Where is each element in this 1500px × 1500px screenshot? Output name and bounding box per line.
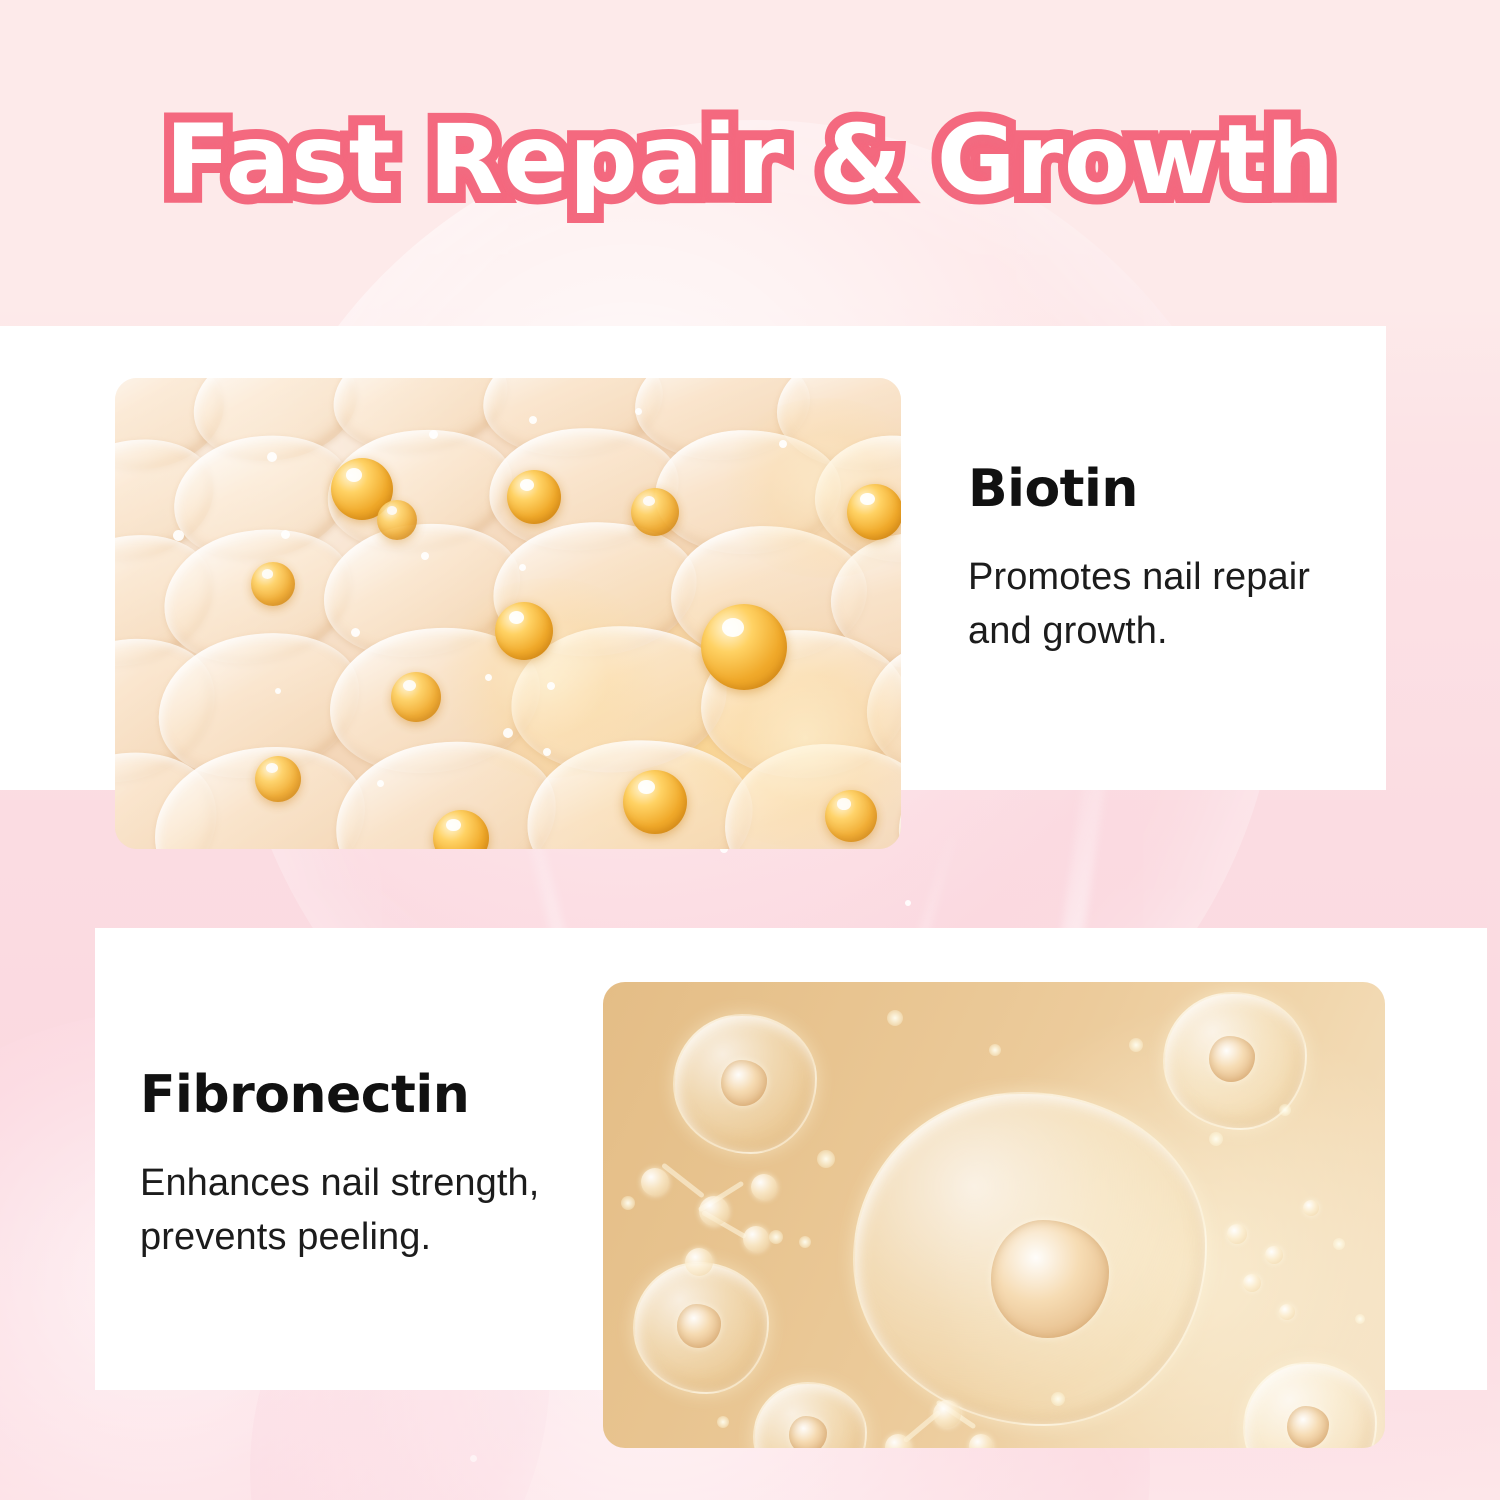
fibronectin-title: Fibronectin [140, 1068, 590, 1123]
infographic-stage: Fast Repair & Growth [0, 0, 1500, 1500]
biotin-title: Biotin [968, 462, 1368, 517]
biotin-text-block: Biotin Promotes nail repair and growth. [968, 462, 1368, 659]
page-title: Fast Repair & Growth [165, 112, 1335, 208]
fibronectin-text-block: Fibronectin Enhances nail strength, prev… [140, 1068, 590, 1265]
biotin-image [115, 378, 901, 849]
fibronectin-description: Enhances nail strength, prevents peeling… [140, 1157, 590, 1265]
headline-container: Fast Repair & Growth [0, 112, 1500, 208]
fibronectin-image [603, 982, 1385, 1448]
biotin-description: Promotes nail repair and growth. [968, 551, 1368, 659]
